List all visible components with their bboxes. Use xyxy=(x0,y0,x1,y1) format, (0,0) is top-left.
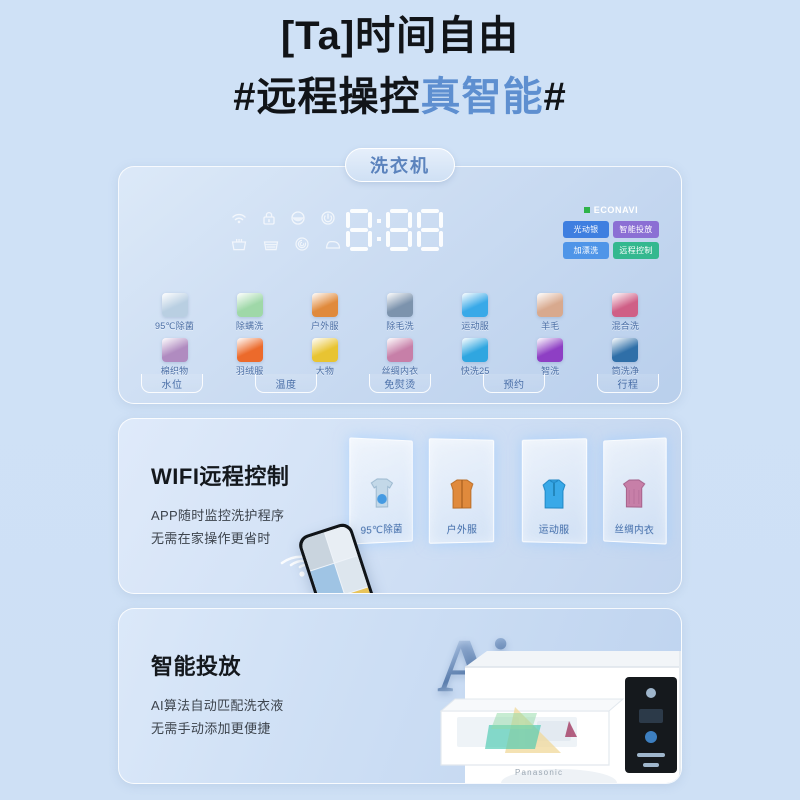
program-icon xyxy=(462,293,488,317)
program-item[interactable]: 羊毛 xyxy=(513,293,588,332)
feature-badge[interactable]: 加漂洗 xyxy=(563,242,609,259)
program-icon xyxy=(387,338,413,362)
program-label: 除螨洗 xyxy=(236,319,264,332)
garment-card-label: 95℃除菌 xyxy=(360,520,402,537)
headline-secondary: #远程操控真智能# xyxy=(0,75,800,120)
econavi-label: ECONAVI xyxy=(594,205,639,215)
status-icon-group xyxy=(231,211,341,251)
program-label: 95℃除菌 xyxy=(155,319,194,332)
function-button[interactable]: 免熨烫 xyxy=(369,374,431,393)
wifi-title: WIFI远程控制 xyxy=(151,459,289,491)
status-icon-row-top xyxy=(231,211,341,225)
garment-card-label: 丝绸内衣 xyxy=(615,520,655,536)
program-item[interactable]: 除毛洗 xyxy=(362,293,437,332)
program-icon xyxy=(462,338,488,362)
child-lock-icon xyxy=(263,211,275,225)
econavi-title: ECONAVI xyxy=(563,205,659,215)
program-item[interactable]: 羽绒服 xyxy=(212,338,287,377)
program-icon xyxy=(312,293,338,317)
program-item[interactable]: 除螨洗 xyxy=(212,293,287,332)
program-icon xyxy=(237,338,263,362)
program-icon xyxy=(162,338,188,362)
program-item[interactable]: 丝绸内衣 xyxy=(362,338,437,377)
program-icon xyxy=(612,293,638,317)
function-button[interactable]: 水位 xyxy=(141,374,203,393)
water-level-icon xyxy=(263,238,279,251)
status-icon-row-bottom xyxy=(231,237,341,251)
led-digit-1 xyxy=(346,209,372,251)
feature-badge[interactable]: 光动银 xyxy=(563,221,609,238)
program-item[interactable]: 智洗 xyxy=(513,338,588,377)
program-label: 除毛洗 xyxy=(386,319,414,332)
wifi-subtitle-line-1: APP随时监控洗护程序 xyxy=(151,505,289,528)
garment-card-row: 95℃除菌 户外服 运动服 丝绸内衣 xyxy=(345,433,675,553)
iron-icon xyxy=(325,238,341,250)
program-icon xyxy=(312,338,338,362)
wifi-icon xyxy=(231,212,247,225)
headline-primary: [Ta]时间自由 xyxy=(0,14,800,59)
garment-card-label: 运动服 xyxy=(539,521,570,537)
led-display xyxy=(346,209,443,251)
ai-dispensing-card: 智能投放 AI算法自动匹配洗衣液 无需手动添加更便捷 Ai xyxy=(118,608,682,784)
program-label: 混合洗 xyxy=(612,319,640,332)
program-item[interactable]: 筒洗净 xyxy=(588,338,663,377)
tshirt-icon xyxy=(365,473,398,516)
program-label: 运动服 xyxy=(461,319,489,332)
function-button[interactable]: 行程 xyxy=(597,374,659,393)
led-digit-2 xyxy=(386,209,412,251)
led-digit-3 xyxy=(417,209,443,251)
drum-door-icon xyxy=(291,211,305,225)
program-label: 羊毛 xyxy=(541,319,559,332)
program-item[interactable]: 大物 xyxy=(287,338,362,377)
program-icon xyxy=(537,338,563,362)
function-button[interactable]: 温度 xyxy=(255,374,317,393)
garment-card[interactable]: 丝绸内衣 xyxy=(603,437,667,544)
spin-dry-icon xyxy=(295,237,309,251)
program-item[interactable]: 棉织物 xyxy=(137,338,212,377)
feature-badge[interactable]: 远程控制 xyxy=(613,242,659,259)
program-icon xyxy=(237,293,263,317)
program-icon xyxy=(387,293,413,317)
program-item[interactable]: 95℃除菌 xyxy=(137,293,212,332)
wash-tub-icon xyxy=(231,238,247,251)
power-icon xyxy=(321,211,335,225)
feature-badge[interactable]: 智能投放 xyxy=(613,221,659,238)
ai-subtitle-line-1: AI算法自动匹配洗衣液 xyxy=(151,695,284,718)
garment-card[interactable]: 95℃除菌 xyxy=(349,437,413,544)
washing-machine-illustration: Panasonic xyxy=(419,615,682,783)
function-button-row: 水位 温度 免熨烫 预约 行程 xyxy=(141,374,659,393)
garment-card-label: 户外服 xyxy=(447,521,478,537)
program-item[interactable]: 混合洗 xyxy=(588,293,663,332)
wifi-remote-card: WIFI远程控制 APP随时监控洗护程序 无需在家操作更省时 95℃除菌 户外服 xyxy=(118,418,682,594)
jacket-icon xyxy=(445,473,479,515)
ai-title: 智能投放 xyxy=(151,649,284,681)
section-pill-washing-machine: 洗衣机 xyxy=(345,148,455,182)
ai-text-block: 智能投放 AI算法自动匹配洗衣液 无需手动添加更便捷 xyxy=(151,649,284,741)
program-icon xyxy=(162,293,188,317)
hoodie-icon xyxy=(537,473,571,515)
program-icon xyxy=(537,293,563,317)
function-button[interactable]: 预约 xyxy=(483,374,545,393)
program-label: 户外服 xyxy=(311,319,339,332)
page-header: [Ta]时间自由 #远程操控真智能# xyxy=(0,0,800,120)
feature-badge-group: 光动银 智能投放 加漂洗 远程控制 xyxy=(563,221,659,259)
silk-top-icon xyxy=(618,473,651,516)
program-item[interactable]: 户外服 xyxy=(287,293,362,332)
program-item[interactable]: 运动服 xyxy=(438,293,513,332)
led-colon xyxy=(377,209,381,251)
headline-secondary-plain-b: # xyxy=(544,75,567,119)
headline-secondary-accent: 真智能 xyxy=(421,75,544,119)
garment-card[interactable]: 运动服 xyxy=(522,438,587,544)
ai-subtitle-line-2: 无需手动添加更便捷 xyxy=(151,718,284,741)
garment-card[interactable]: 户外服 xyxy=(429,438,494,544)
control-panel-card: ECONAVI 光动银 智能投放 加漂洗 远程控制 95℃除菌 除螨洗 户外服 … xyxy=(118,166,682,404)
program-grid: 95℃除菌 除螨洗 户外服 除毛洗 运动服 羊毛 混合洗 棉织物 羽绒服 大物 … xyxy=(137,293,663,377)
headline-secondary-plain-a: #远程操控 xyxy=(233,75,420,119)
program-item[interactable]: 快洗25 xyxy=(438,338,513,377)
program-icon xyxy=(612,338,638,362)
ai-subtitle: AI算法自动匹配洗衣液 无需手动添加更便捷 xyxy=(151,695,284,741)
svg-text:Panasonic: Panasonic xyxy=(515,768,563,777)
econavi-square-icon xyxy=(584,207,590,213)
econavi-block: ECONAVI 光动银 智能投放 加漂洗 远程控制 xyxy=(563,205,659,259)
